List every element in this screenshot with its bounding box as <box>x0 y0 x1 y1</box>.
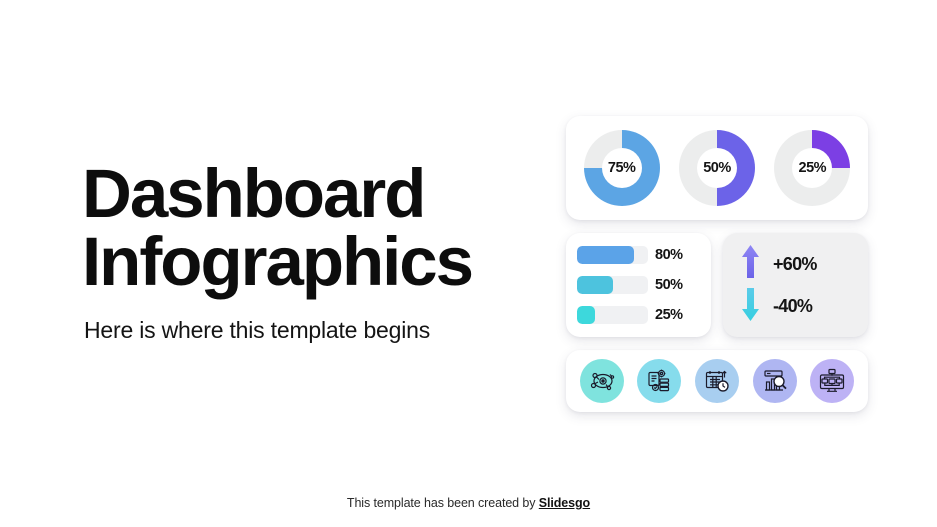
icon-item-document-settings[interactable] <box>637 359 681 403</box>
bar-fill-2 <box>577 276 613 294</box>
icon-item-network-eye[interactable] <box>580 359 624 403</box>
network-eye-icon <box>589 368 615 394</box>
bar-row: 80% <box>577 246 700 264</box>
arrow-down-icon <box>741 286 760 327</box>
monitor-network-icon <box>819 368 845 394</box>
donut-center-75: 75% <box>602 148 642 188</box>
metric-row-increase: +60% <box>732 244 859 285</box>
metrics-card: +60% -40% <box>723 233 868 337</box>
icon-item-monitor-network[interactable] <box>810 359 854 403</box>
icon-item-chart-search[interactable] <box>753 359 797 403</box>
bar-track-1 <box>577 246 648 264</box>
page-title: Dashboard Infographics <box>82 160 552 295</box>
footer-text: This template has been created by <box>347 496 539 510</box>
bar-row: 50% <box>577 276 700 294</box>
page-subtitle: Here is where this template begins <box>84 317 552 344</box>
bar-row: 25% <box>577 306 700 324</box>
bar-value-3: 25% <box>655 307 683 323</box>
donut-value-25: 25% <box>799 160 827 176</box>
donut-center-50: 50% <box>697 148 737 188</box>
donut-value-75: 75% <box>608 160 636 176</box>
slidesgo-link[interactable]: Slidesgo <box>539 496 590 510</box>
dashboard-panel: 75% 50% 25% 80% <box>566 116 868 412</box>
bar-chart-card: 80% 50% 25% <box>566 233 711 337</box>
footer: This template has been created by Slides… <box>0 496 937 510</box>
donut-chart-50: 50% <box>679 130 755 206</box>
bar-value-2: 50% <box>655 277 683 293</box>
bar-fill-3 <box>577 306 595 324</box>
bar-track-2 <box>577 276 648 294</box>
chart-search-icon <box>762 368 788 394</box>
middle-row: 80% 50% 25% <box>566 233 868 337</box>
arrow-up-icon <box>741 244 760 285</box>
calendar-clock-icon <box>704 368 730 394</box>
icon-item-calendar-clock[interactable] <box>695 359 739 403</box>
metric-value-decrease: -40% <box>773 296 812 317</box>
donut-chart-card: 75% 50% 25% <box>566 116 868 220</box>
document-settings-icon <box>646 368 672 394</box>
metric-row-decrease: -40% <box>732 286 859 327</box>
bar-fill-1 <box>577 246 634 264</box>
donut-chart-75: 75% <box>584 130 660 206</box>
icon-strip-card <box>566 350 868 412</box>
bar-track-3 <box>577 306 648 324</box>
donut-chart-25: 25% <box>774 130 850 206</box>
title-block: Dashboard Infographics Here is where thi… <box>82 160 552 344</box>
donut-center-25: 25% <box>792 148 832 188</box>
metric-value-increase: +60% <box>773 254 817 275</box>
donut-value-50: 50% <box>703 160 731 176</box>
bar-value-1: 80% <box>655 247 683 263</box>
